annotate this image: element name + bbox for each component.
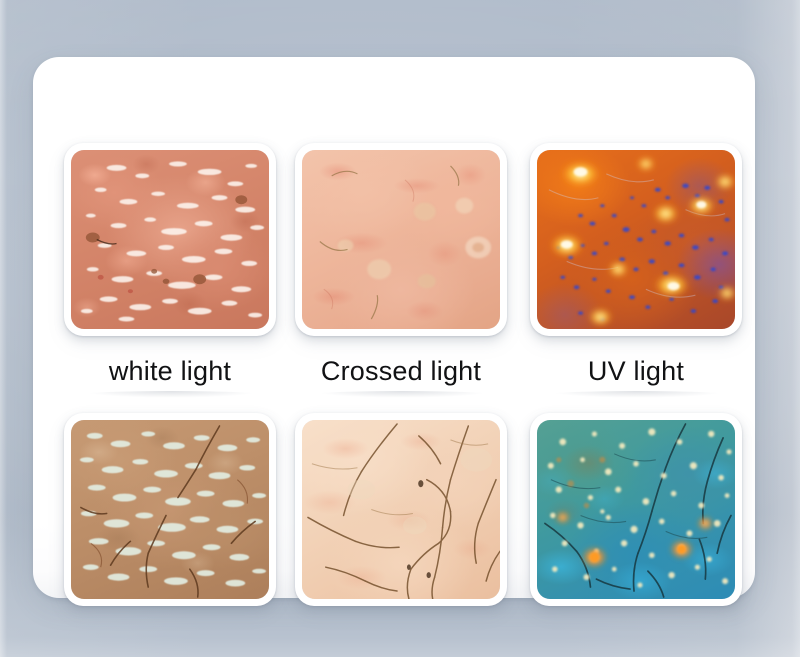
tile-uv-light-bottom[interactable] — [530, 413, 742, 606]
tile-uv-light-top[interactable] — [530, 143, 742, 336]
label-underline-uv-light — [539, 391, 735, 400]
photo-crossed-light-bottom — [302, 420, 500, 599]
photo-uv-light-bottom — [537, 420, 735, 599]
photo-layer-specular-flakes — [71, 150, 269, 329]
label-uv-light: UV light — [530, 349, 742, 393]
label-underline-crossed-light — [304, 391, 500, 400]
label-underline-white-light — [73, 391, 269, 400]
tile-white-light-top[interactable] — [64, 143, 276, 336]
white-card: white light Crossed light UV light — [33, 57, 755, 598]
photo-layer-flakes-and-hairs — [71, 420, 269, 599]
photo-uv-light-top — [537, 150, 735, 329]
photo-layer-pores-and-hairs — [302, 150, 500, 329]
skin-analysis-sample-panel: white light Crossed light UV light — [0, 0, 800, 657]
label-crossed-light: Crossed light — [295, 349, 507, 393]
tile-crossed-light-bottom[interactable] — [295, 413, 507, 606]
photo-white-light-top — [71, 150, 269, 329]
photo-layer-follicle-dots-and-hairs — [537, 420, 735, 599]
photo-layer-fluorescence — [537, 150, 735, 329]
tile-white-light-bottom[interactable] — [64, 413, 276, 606]
photo-white-light-bottom — [71, 420, 269, 599]
label-white-light: white light — [64, 349, 276, 393]
photo-crossed-light-top — [302, 150, 500, 329]
tile-crossed-light-top[interactable] — [295, 143, 507, 336]
photo-layer-hairs — [302, 420, 500, 599]
